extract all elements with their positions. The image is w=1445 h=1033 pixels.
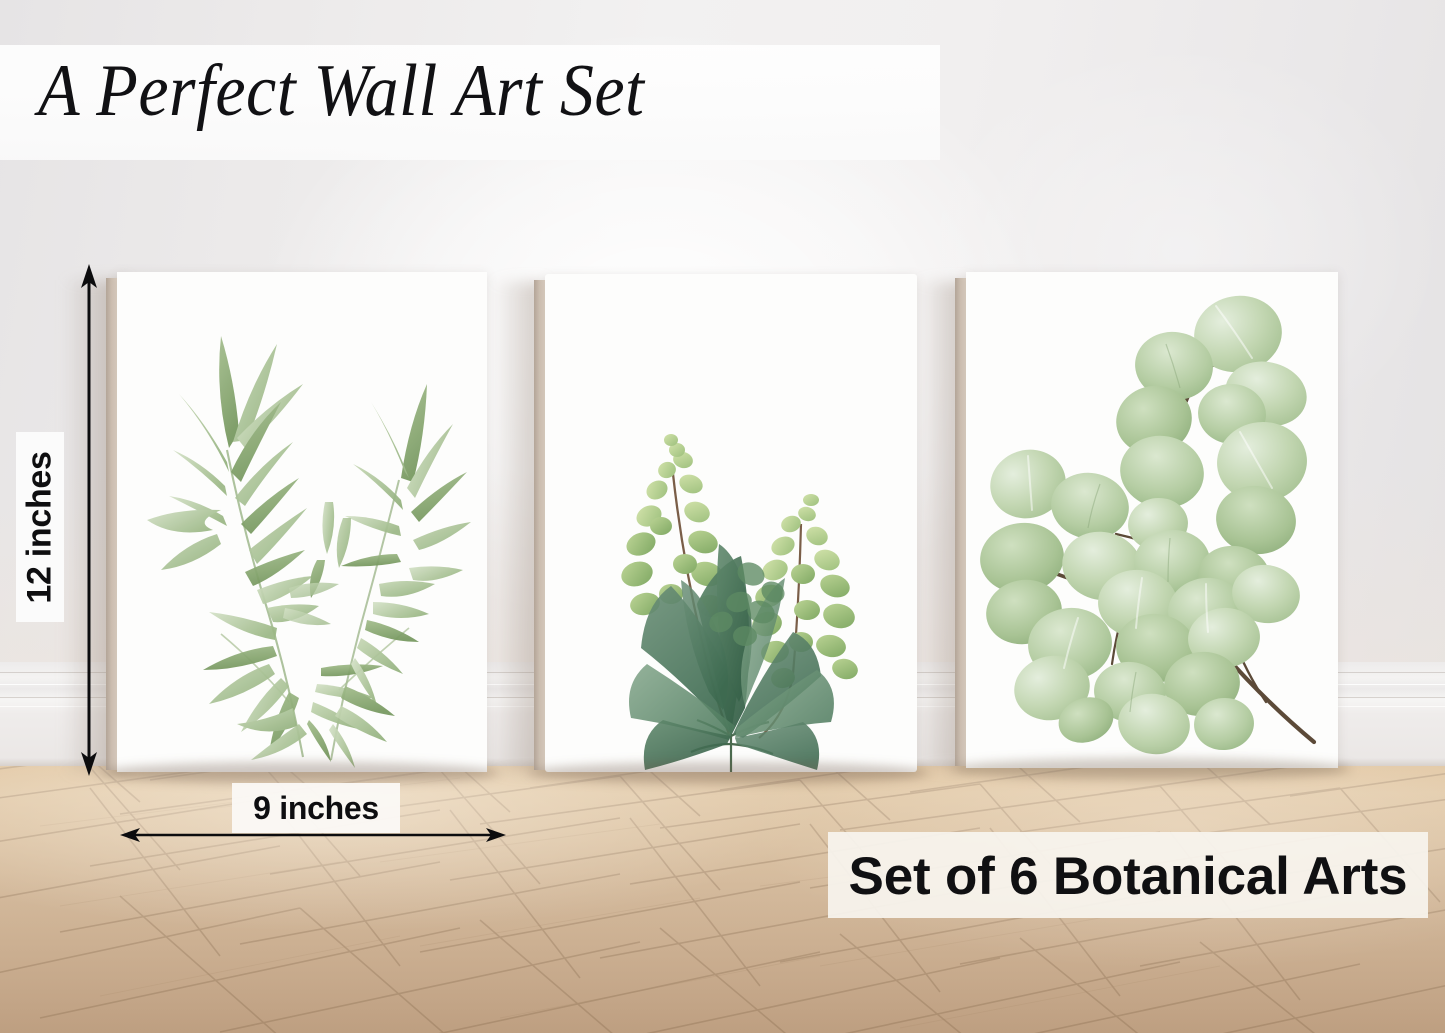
product-scene: A Perfect Wall Art Set 12 inches 9 inche… <box>0 0 1445 1033</box>
height-dimension-arrow <box>72 262 106 778</box>
canvas-artwork-2 <box>545 274 917 772</box>
footer-tagline: Set of 6 Botanical Arts <box>828 845 1428 907</box>
page-title: A Perfect Wall Art Set <box>38 54 644 128</box>
eucalyptus-bouquet-illustration <box>545 274 917 772</box>
canvas-print-2[interactable] <box>545 274 917 772</box>
canvas-floor-shadow <box>528 762 930 784</box>
height-dimension-text: 12 inches <box>21 451 60 603</box>
canvas-print-1[interactable] <box>117 272 487 772</box>
canvas-artwork-3 <box>966 272 1338 768</box>
height-dimension-label: 12 inches <box>16 432 64 622</box>
silver-dollar-eucalyptus-illustration <box>966 272 1338 768</box>
canvas-artwork-1 <box>117 272 487 772</box>
width-dimension-label: 9 inches <box>232 783 400 833</box>
canvas-floor-shadow <box>950 758 1352 780</box>
canvas-floor-shadow <box>100 762 500 784</box>
willow-branch-illustration <box>117 272 487 772</box>
canvas-print-3[interactable] <box>966 272 1338 768</box>
